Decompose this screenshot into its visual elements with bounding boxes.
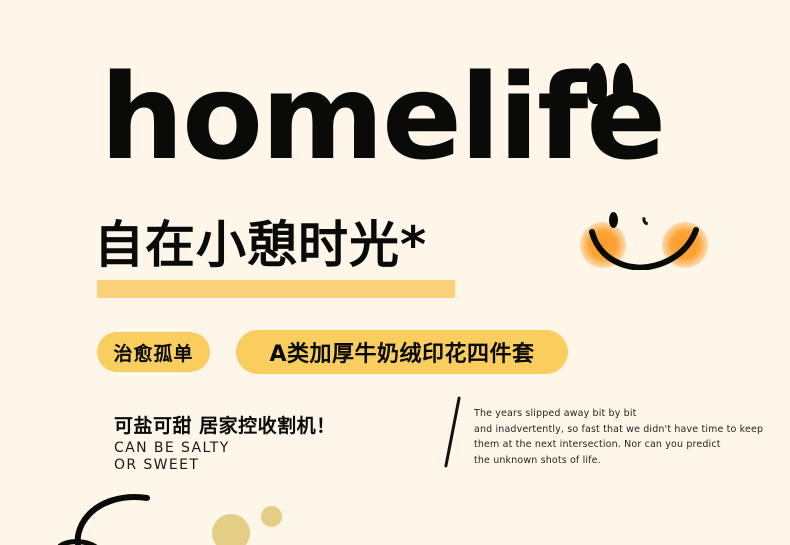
quote-mark-icon xyxy=(587,63,647,113)
tagline-english-line-2: OR SWEET xyxy=(114,457,230,474)
decorative-dot-large xyxy=(212,514,250,545)
page-title: homelife xyxy=(100,58,664,176)
quote-paragraph: The years slipped away bit by bit and in… xyxy=(474,406,724,468)
subheadline: 自在小憩时光* xyxy=(94,214,427,276)
decorative-dot-small xyxy=(261,506,282,527)
smiley-mouth xyxy=(588,226,700,270)
badge-pill-healing[interactable]: 治愈孤单 xyxy=(97,332,210,372)
quote-line-1: The years slipped away bit by bit xyxy=(474,406,724,422)
cherry-stem-icon xyxy=(52,486,162,545)
tagline-english: CAN BE SALTY OR SWEET xyxy=(114,440,230,474)
quote-line-3: them at the next intersection. Nor can y… xyxy=(474,437,724,453)
quote-line-4: the unknown shots of life. xyxy=(474,453,724,469)
badge-pill-product[interactable]: A类加厚牛奶绒印花四件套 xyxy=(236,330,568,374)
poster-canvas: homelife 自在小憩时光* 治愈孤单 A类加厚牛奶绒印花四件套 可盐可甜 … xyxy=(0,0,790,545)
quote-line-2: and inadvertently, so fast that we didn'… xyxy=(474,422,724,438)
tagline-chinese: 可盐可甜 居家控收割机！ xyxy=(114,411,336,438)
tagline-english-line-1: CAN BE SALTY xyxy=(114,440,230,457)
slash-divider-icon xyxy=(440,398,466,468)
subheadline-group: 自在小憩时光* xyxy=(94,214,427,276)
smiley-face-icon xyxy=(578,196,710,286)
subheadline-highlight-bar xyxy=(97,280,455,298)
